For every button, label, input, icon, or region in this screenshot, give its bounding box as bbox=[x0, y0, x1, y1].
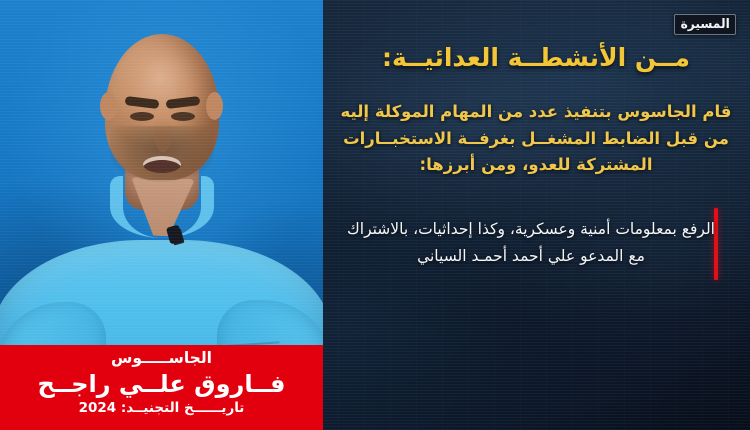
person-name: فــاروق علــي راجــح bbox=[0, 370, 323, 398]
page-title: مــن الأنشطــة العدائيــة: bbox=[336, 44, 736, 72]
almasirah-logo-text: المسيرة bbox=[680, 18, 729, 31]
detail-paragraph: الرفع بمعلومات أمنية وعسكرية، وكذا إحداث… bbox=[338, 216, 724, 269]
broadcast-graphic: المسيرة مــن الأنشطــة العدائيــة: قام ا… bbox=[0, 0, 750, 430]
summary-paragraph: قام الجاسوس بتنفيذ عدد من المهام الموكلة… bbox=[336, 99, 736, 179]
role-label: الجاســـــوس bbox=[0, 349, 323, 368]
identity-banner: الجاســـــوس فــاروق علــي راجــح تاريــ… bbox=[0, 345, 323, 430]
recruitment-date: تاريــــــخ التجنيــد: 2024 bbox=[0, 400, 323, 416]
almasirah-logo: المسيرة bbox=[674, 14, 736, 35]
